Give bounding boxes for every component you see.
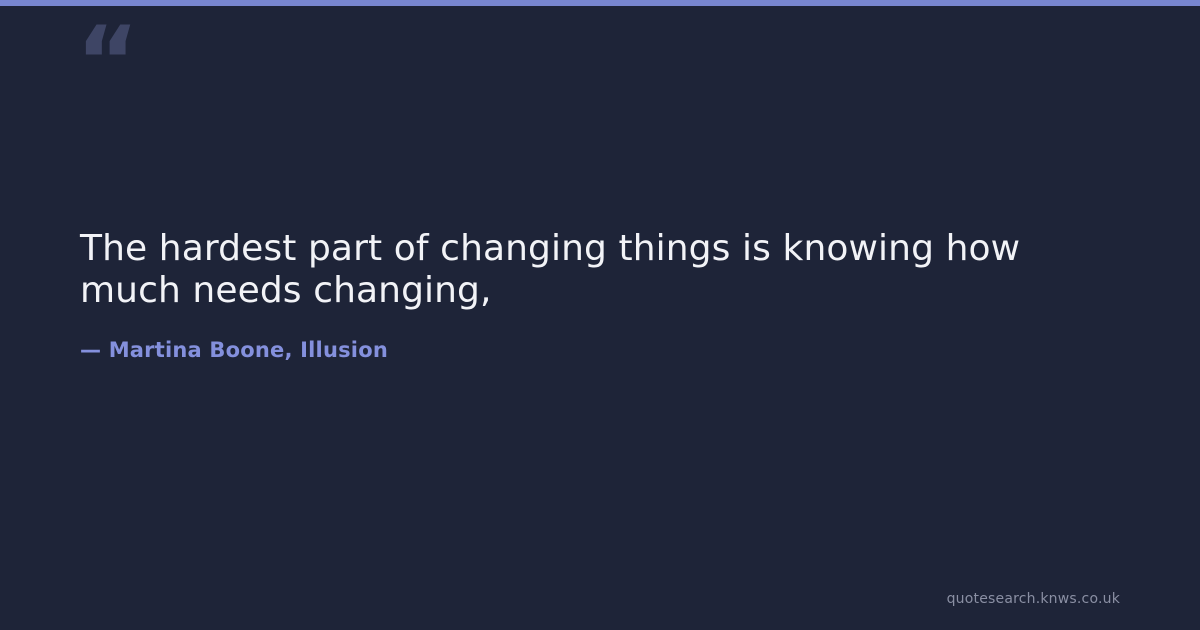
- quote-card: “ The hardest part of changing things is…: [0, 0, 1200, 630]
- top-accent-bar: [0, 0, 1200, 6]
- open-quote-icon: “: [76, 14, 166, 104]
- site-watermark: quotesearch.knws.co.uk: [947, 590, 1120, 608]
- quote-content: The hardest part of changing things is k…: [80, 228, 1090, 363]
- quote-text: The hardest part of changing things is k…: [80, 228, 1070, 312]
- quote-attribution: — Martina Boone, Illusion: [80, 337, 1090, 363]
